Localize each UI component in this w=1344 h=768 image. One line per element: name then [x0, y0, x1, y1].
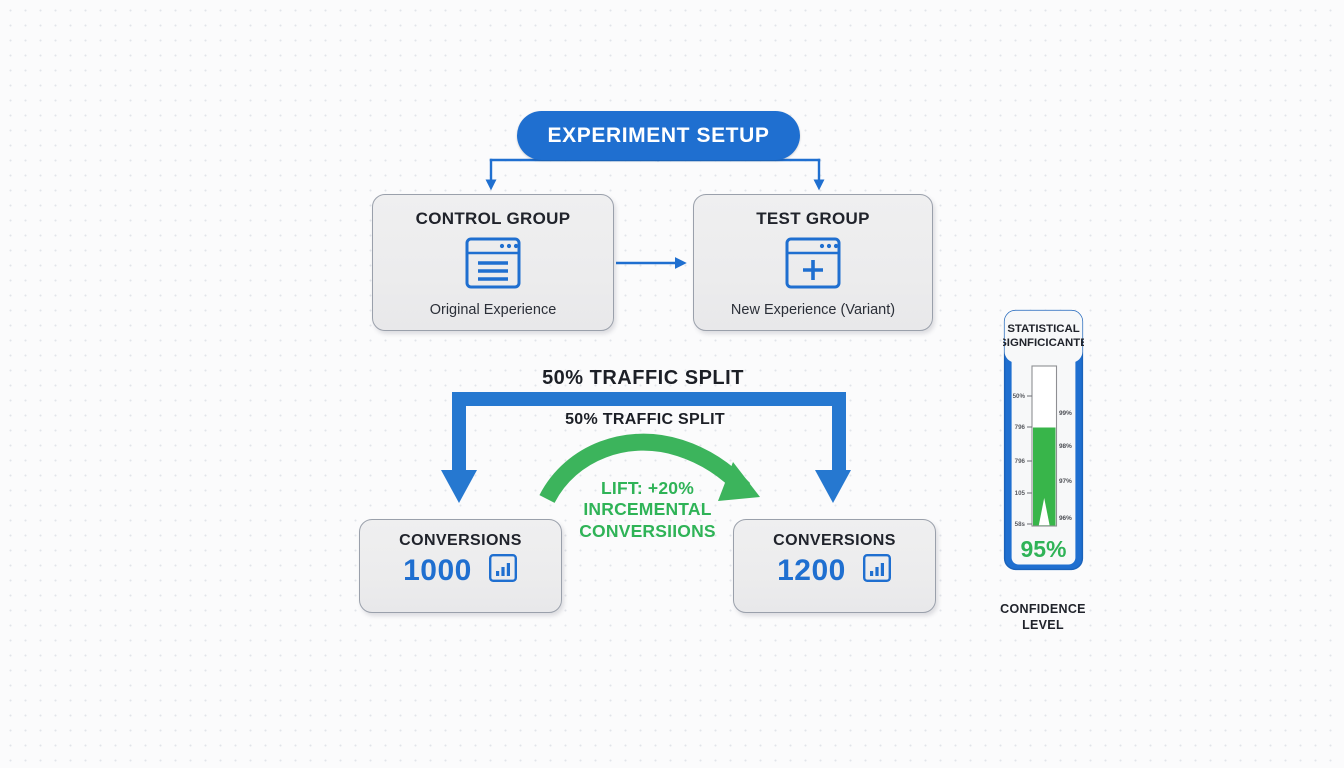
browser-window-lines-icon	[464, 236, 522, 295]
lift-line-1: LIFT: +20%	[560, 478, 735, 499]
gauge-title-line-2: SIGNFICICANTE	[1003, 337, 1084, 349]
statistical-significance-gauge: STATISTICAL SIGNFICICANTE 50% 796 796 10…	[1003, 309, 1084, 571]
test-group-title: TEST GROUP	[756, 209, 870, 229]
gauge-left-tick-3: 105	[1015, 490, 1026, 497]
conversions-test-title: CONVERSIONS	[773, 532, 896, 550]
conversions-control-row: 1000	[403, 553, 518, 588]
lift-line-3: CONVERSIIONS	[560, 521, 735, 542]
gauge-left-tick-0: 50%	[1013, 393, 1026, 400]
gauge-right-tick-1: 98%	[1059, 443, 1072, 450]
conversions-control-title: CONVERSIONS	[399, 532, 522, 550]
test-group-card[interactable]: TEST GROUP New Experience (Variant)	[693, 194, 933, 331]
lift-line-2: INRCEMENTAL	[560, 499, 735, 520]
bar-chart-icon	[862, 553, 892, 588]
gauge-value: 95%	[1020, 536, 1066, 562]
experiment-setup-pill[interactable]: EXPERIMENT SETUP	[517, 111, 800, 160]
traffic-split-primary-label: 50% TRAFFIC SPLIT	[0, 367, 1290, 390]
control-group-title: CONTROL GROUP	[416, 209, 571, 229]
control-group-subtitle: Original Experience	[373, 302, 613, 318]
lift-annotation: LIFT: +20% INRCEMENTAL CONVERSIIONS	[560, 478, 735, 542]
gauge-left-tick-2: 796	[1015, 458, 1026, 465]
gauge-right-tick-2: 97%	[1059, 478, 1072, 485]
conversions-test-row: 1200	[777, 553, 892, 588]
confidence-level-caption: CONFIDENCE LEVEL	[978, 601, 1108, 634]
control-group-card[interactable]: CONTROL GROUP Original Experience	[372, 194, 614, 331]
browser-window-plus-icon	[784, 236, 842, 295]
confidence-level-line-2: LEVEL	[978, 617, 1108, 633]
diagram-canvas: EXPERIMENT SETUP CONTROL GROUP Original …	[0, 0, 1344, 768]
confidence-level-line-1: CONFIDENCE	[978, 601, 1108, 617]
gauge-right-tick-3: 96%	[1059, 515, 1072, 522]
conversions-control-value: 1000	[403, 556, 472, 586]
gauge-left-tick-1: 796	[1015, 424, 1026, 431]
conversions-control-card[interactable]: CONVERSIONS 1000	[359, 519, 562, 613]
test-group-subtitle: New Experience (Variant)	[694, 302, 932, 318]
gauge-title-line-1: STATISTICAL	[1007, 323, 1079, 335]
traffic-split-secondary-label: 50% TRAFFIC SPLIT	[0, 411, 1290, 429]
page-title: EXPERIMENT SETUP	[548, 124, 770, 148]
conversions-test-card[interactable]: CONVERSIONS 1200	[733, 519, 936, 613]
gauge-right-tick-0: 99%	[1059, 410, 1072, 417]
bar-chart-icon	[488, 553, 518, 588]
conversions-test-value: 1200	[777, 556, 846, 586]
gauge-left-tick-4: 58s	[1015, 521, 1026, 528]
